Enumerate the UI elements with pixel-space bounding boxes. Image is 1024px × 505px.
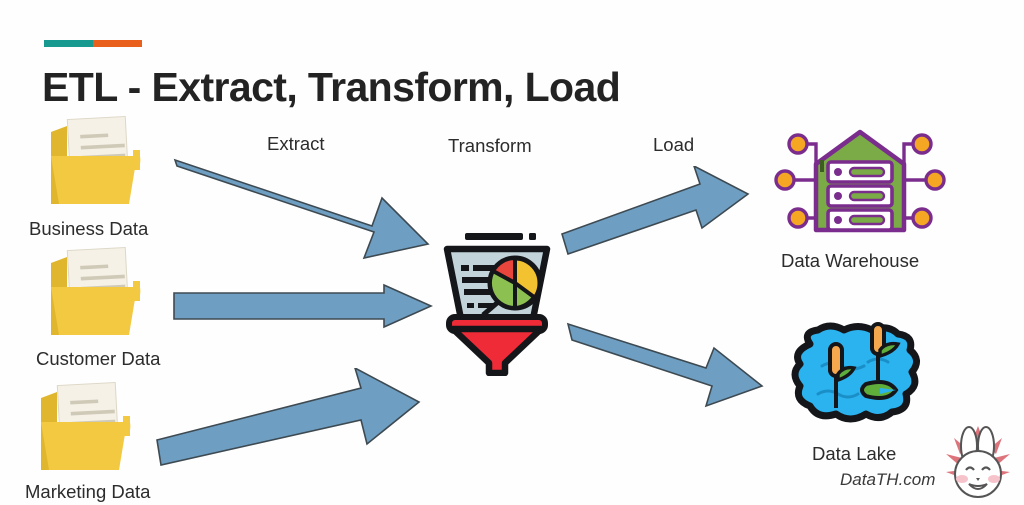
stage-label-transform: Transform <box>448 135 532 157</box>
folder-icon-marketing <box>35 378 139 483</box>
accent-bar <box>44 40 142 47</box>
arrow-load-lake <box>566 316 766 417</box>
arrow-load-warehouse <box>560 166 750 261</box>
source-label-marketing: Marketing Data <box>25 481 150 503</box>
data-warehouse-icon <box>772 126 948 247</box>
rabbit-mascot-logo <box>936 424 1020 505</box>
accent-bar-orange-segment <box>93 40 142 47</box>
page-title: ETL - Extract, Transform, Load <box>42 64 620 111</box>
funnel-analytics-icon <box>437 231 557 381</box>
target-label-lake: Data Lake <box>812 443 896 465</box>
source-label-business: Business Data <box>29 218 148 240</box>
folder-icon-business <box>45 112 149 217</box>
watermark-text: DataTH.com <box>840 470 935 490</box>
source-label-customer: Customer Data <box>36 348 160 370</box>
etl-diagram-canvas: ETL - Extract, Transform, Load Extract T… <box>0 0 1024 505</box>
accent-bar-teal-segment <box>44 40 93 47</box>
arrow-extract-marketing <box>155 368 423 473</box>
folder-icon-customer <box>45 243 149 348</box>
arrow-extract-customer <box>172 283 434 334</box>
data-lake-icon <box>788 322 928 439</box>
target-label-warehouse: Data Warehouse <box>781 250 919 272</box>
arrow-extract-business <box>172 152 432 269</box>
stage-label-load: Load <box>653 134 694 156</box>
